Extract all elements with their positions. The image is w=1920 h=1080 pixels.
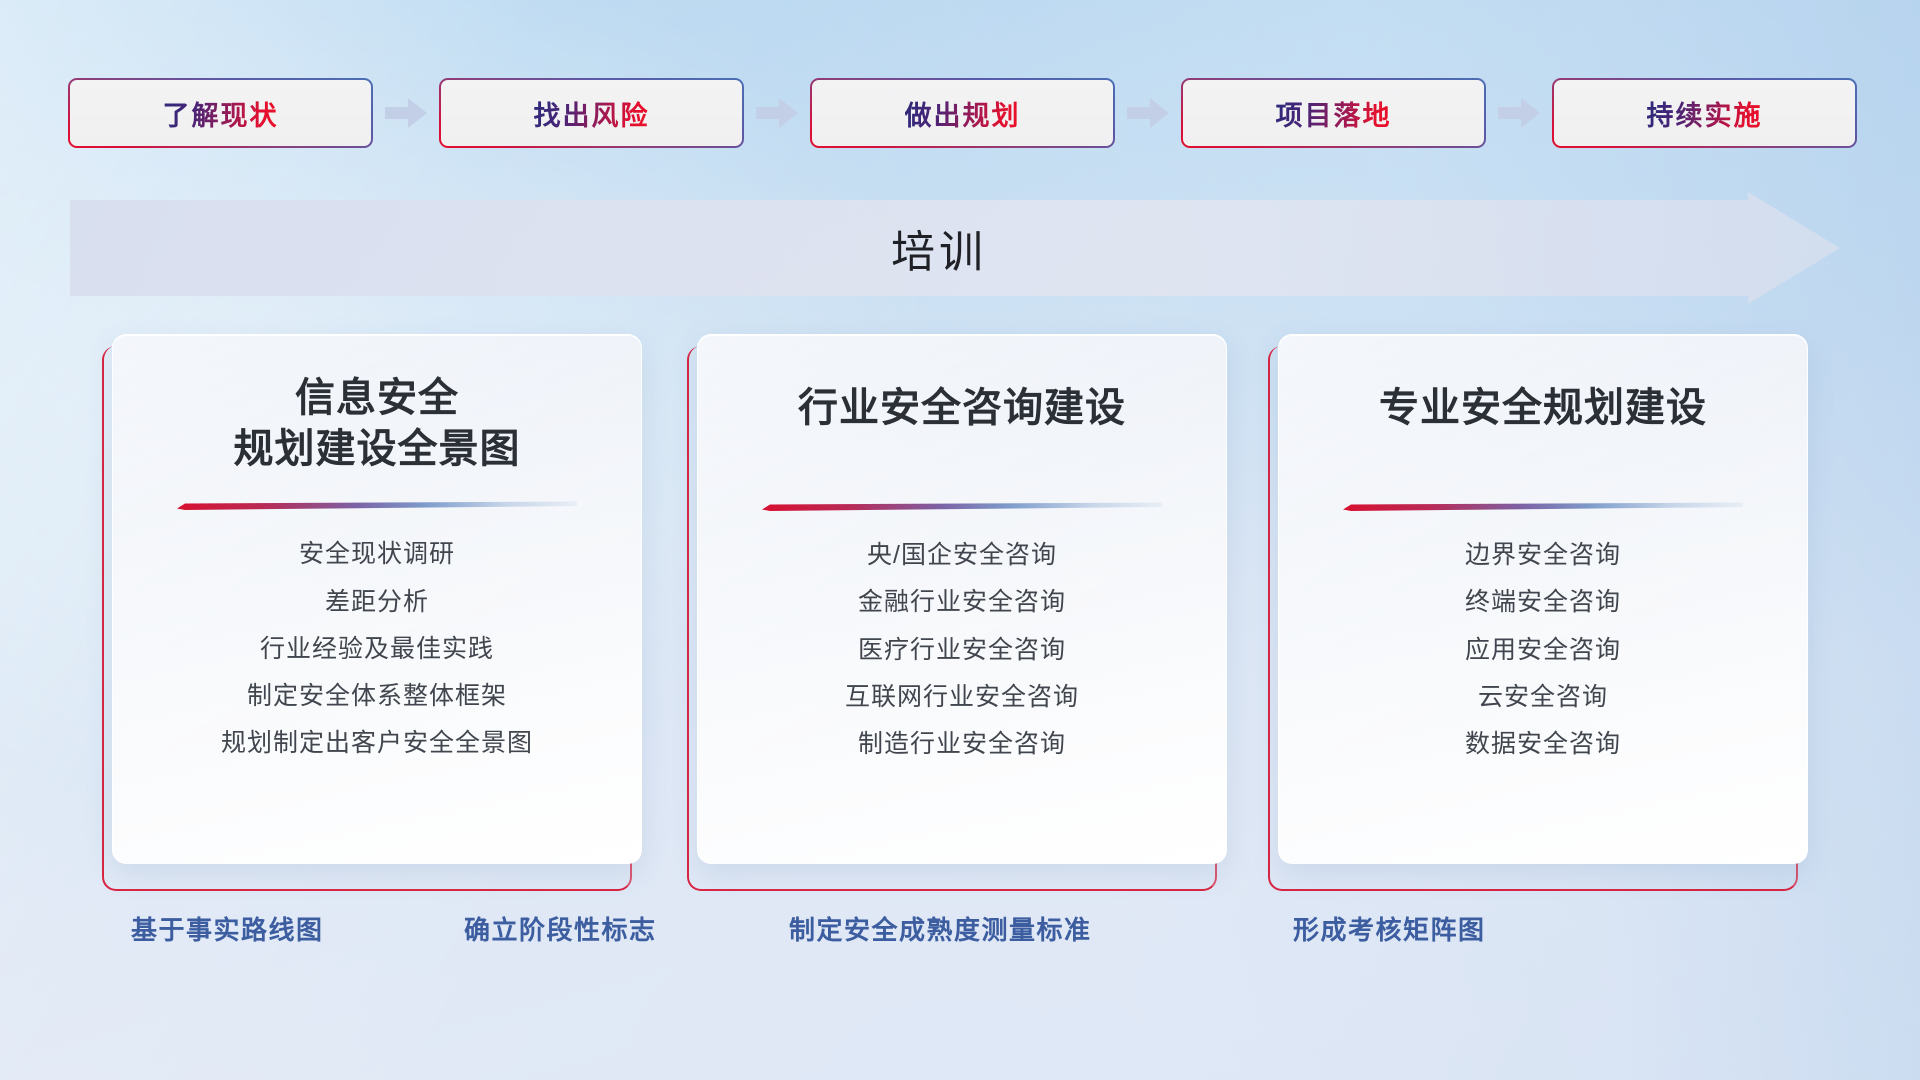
process-step-label: 做出规划 — [905, 94, 1021, 133]
list-item: 制造行业安全咨询 — [858, 726, 1066, 762]
card-1[interactable]: 信息安全 规划建设全景图 — [112, 334, 642, 879]
footer-label-row: 基于事实路线图 确立阶段性标志 制定安全成熟度测量标准 形成考核矩阵图 — [0, 910, 1920, 970]
card-2-title-line-1: 行业安全咨询建设 — [716, 383, 1208, 434]
process-step-label: 持续实施 — [1647, 94, 1763, 133]
card-1-list: 安全现状调研 差距分析 行业经验及最佳实践 制定安全体系整体框架 规划制定出客户… — [113, 536, 641, 761]
card-1-title-line-1: 信息安全 — [131, 373, 623, 424]
footer-label-1: 基于事实路线图 — [131, 910, 324, 947]
banner-title: 培训 — [70, 192, 1748, 304]
process-step-label: 了解现状 — [163, 94, 279, 133]
process-step-5[interactable]: 持续实施 — [1552, 78, 1857, 148]
card-2[interactable]: 行业安全咨询建设 — [697, 334, 1227, 879]
list-item: 制定安全体系整体框架 — [247, 678, 507, 714]
card-divider-gradient — [762, 502, 1162, 511]
card-2-title: 行业安全咨询建设 — [698, 383, 1226, 434]
card-3-title: 专业安全规划建设 — [1279, 383, 1807, 434]
list-item: 应用安全咨询 — [1465, 632, 1621, 668]
process-step-3[interactable]: 做出规划 — [810, 78, 1115, 148]
card-1-body: 信息安全 规划建设全景图 — [112, 334, 642, 864]
process-step-label: 找出风险 — [534, 94, 650, 133]
process-step-4[interactable]: 项目落地 — [1181, 78, 1486, 148]
footer-label-4: 形成考核矩阵图 — [1293, 910, 1486, 947]
card-3-body: 专业安全规划建设 — [1278, 334, 1808, 864]
card-divider-gradient — [1343, 502, 1743, 511]
card-2-body: 行业安全咨询建设 — [697, 334, 1227, 864]
list-item: 行业经验及最佳实践 — [260, 631, 494, 667]
list-item: 央/国企安全咨询 — [867, 537, 1057, 573]
training-banner: 培训 — [70, 192, 1840, 304]
card-3-list: 边界安全咨询 终端安全咨询 应用安全咨询 云安全咨询 数据安全咨询 — [1279, 537, 1807, 762]
list-item: 终端安全咨询 — [1465, 584, 1621, 620]
list-item: 差距分析 — [325, 584, 429, 620]
footer-label-2: 确立阶段性标志 — [464, 910, 657, 947]
arrow-right-icon — [373, 78, 439, 148]
card-divider-gradient — [177, 501, 577, 510]
card-1-title-line-2: 规划建设全景图 — [131, 424, 623, 475]
card-2-list: 央/国企安全咨询 金融行业安全咨询 医疗行业安全咨询 互联网行业安全咨询 制造行… — [698, 537, 1226, 762]
footer-label-3: 制定安全成熟度测量标准 — [789, 910, 1092, 947]
card-3-title-line-1: 专业安全规划建设 — [1297, 383, 1789, 434]
list-item: 云安全咨询 — [1478, 679, 1608, 715]
arrow-right-icon — [1115, 78, 1181, 148]
card-row: 信息安全 规划建设全景图 — [0, 334, 1920, 879]
process-step-row: 了解现状 找出风险 做出规划 项目落地 — [68, 78, 1858, 148]
process-step-1[interactable]: 了解现状 — [68, 78, 373, 148]
list-item: 边界安全咨询 — [1465, 537, 1621, 573]
arrow-right-icon — [744, 78, 810, 148]
process-step-label: 项目落地 — [1276, 94, 1392, 133]
list-item: 医疗行业安全咨询 — [858, 632, 1066, 668]
card-1-title: 信息安全 规划建设全景图 — [113, 373, 641, 475]
list-item: 规划制定出客户安全全景图 — [221, 725, 533, 761]
list-item: 安全现状调研 — [299, 536, 455, 572]
card-3[interactable]: 专业安全规划建设 — [1278, 334, 1808, 879]
process-step-2[interactable]: 找出风险 — [439, 78, 744, 148]
list-item: 数据安全咨询 — [1465, 726, 1621, 762]
list-item: 金融行业安全咨询 — [858, 584, 1066, 620]
arrow-right-icon — [1486, 78, 1552, 148]
slide-canvas: 了解现状 找出风险 做出规划 项目落地 — [0, 0, 1920, 1080]
list-item: 互联网行业安全咨询 — [845, 679, 1079, 715]
